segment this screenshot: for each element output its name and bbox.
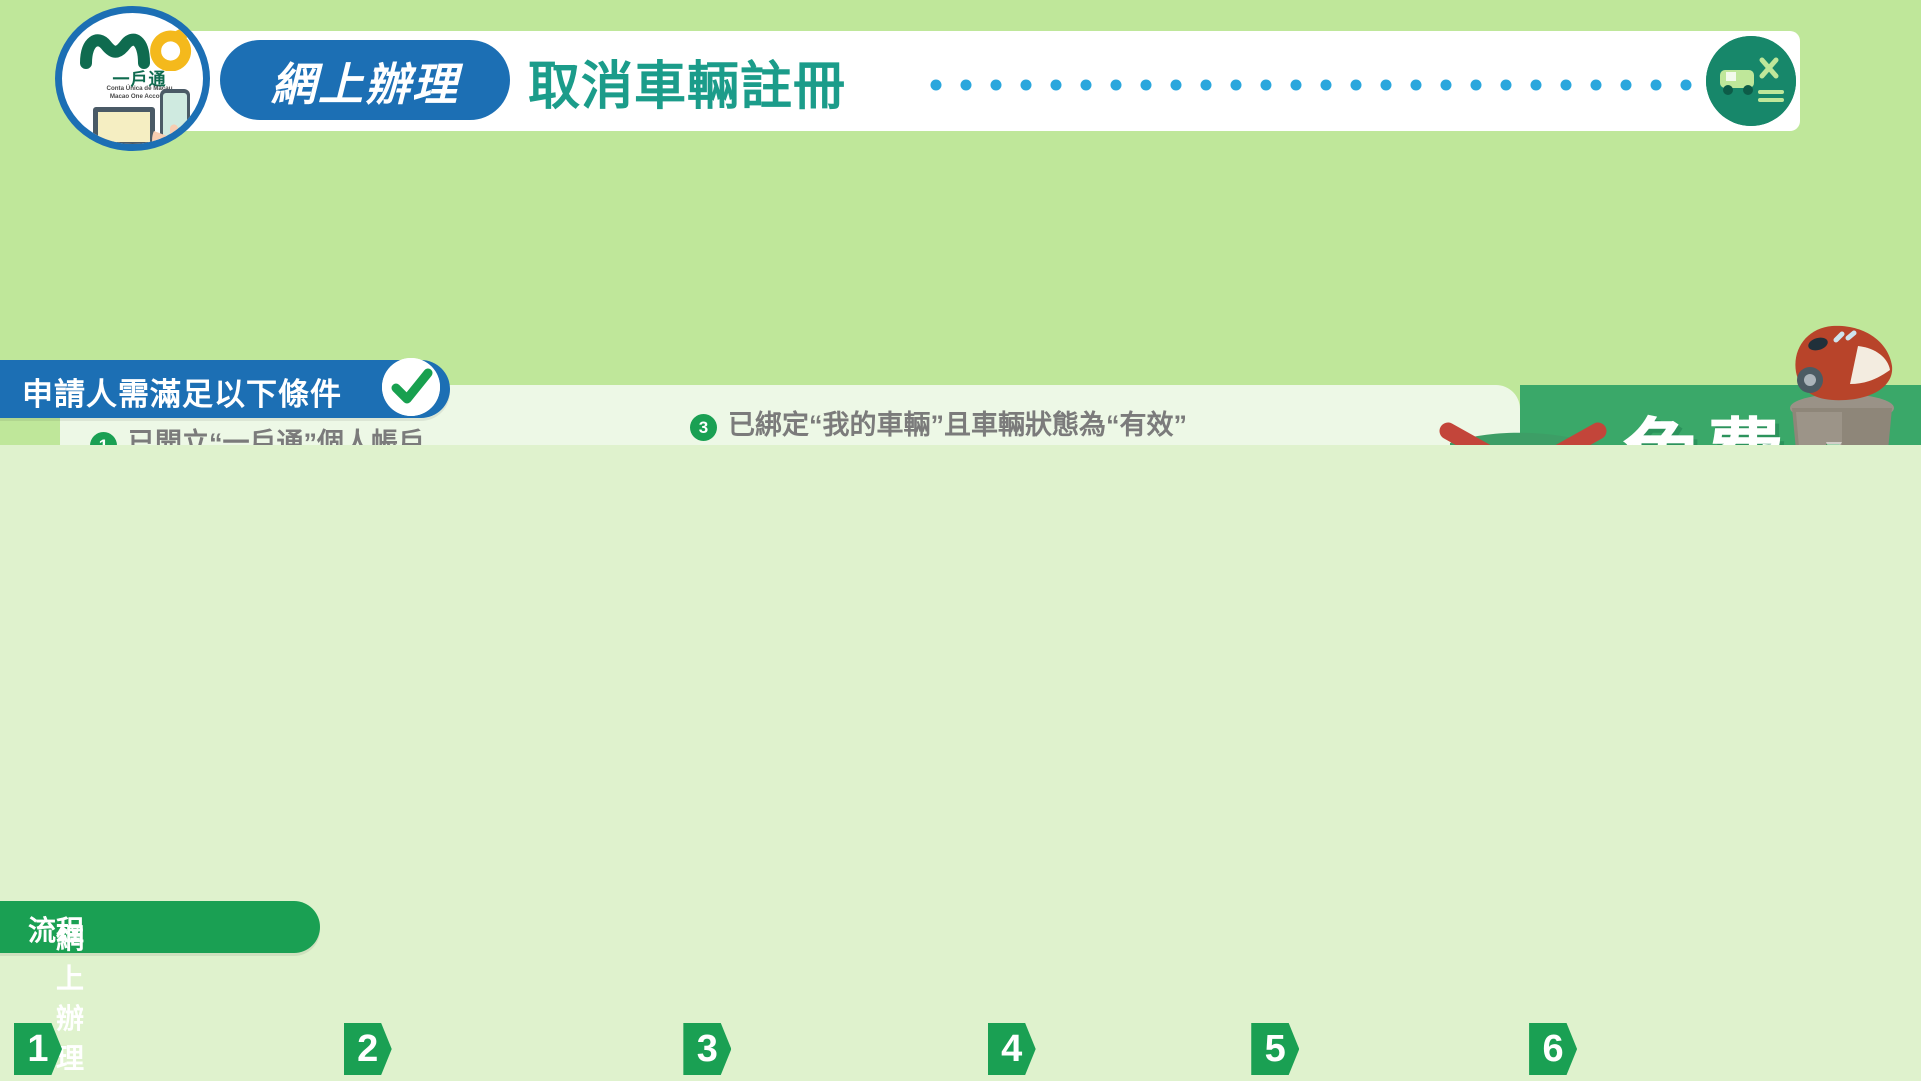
one-account-logo: 一戶通 Conta Única de Macau Macao One Accou… [55, 6, 210, 151]
car-in-bin-icon [1780, 318, 1905, 408]
online-service-pill-label: 網上辦理 [220, 40, 510, 120]
infographic-page: 網上辦理 取消車輛註冊 [0, 0, 1921, 1081]
dotted-connector [930, 78, 1720, 90]
flow-title-pill: 網上辦理流程 [0, 901, 320, 953]
online-service-pill: 網上辦理 [220, 40, 510, 120]
condition-item: 3 已綁定“我的車輛”且車輛狀態為“有效” [690, 408, 1390, 443]
flow-title: 網上辦理流程 [28, 909, 84, 949]
condition-number: 3 [690, 414, 717, 441]
condition-text: 已綁定“我的車輛”且車輛狀態為“有效” [728, 408, 1187, 443]
vehicle-service-icon [1706, 36, 1796, 126]
hand-phone-icon [148, 85, 204, 151]
conditions-section: MOP $ $ 免費 [0, 170, 1921, 445]
flow-section: 1 登入申請人“一戶通”帳戶，選擇“取消車輛註冊”服務 [0, 445, 1921, 845]
page-title: 取消車輛註冊 [528, 44, 846, 119]
bottom-section: 車輛屬以下情況，可親臨交通事務局馬交石服務專區、黑沙環政府綜合服務大樓及離島政府… [0, 845, 1921, 1081]
conditions-title: 申請人需滿足以下條件 [22, 369, 342, 414]
header-band: 網上辦理 取消車輛註冊 [0, 0, 1921, 170]
green-check-icon [382, 358, 440, 416]
